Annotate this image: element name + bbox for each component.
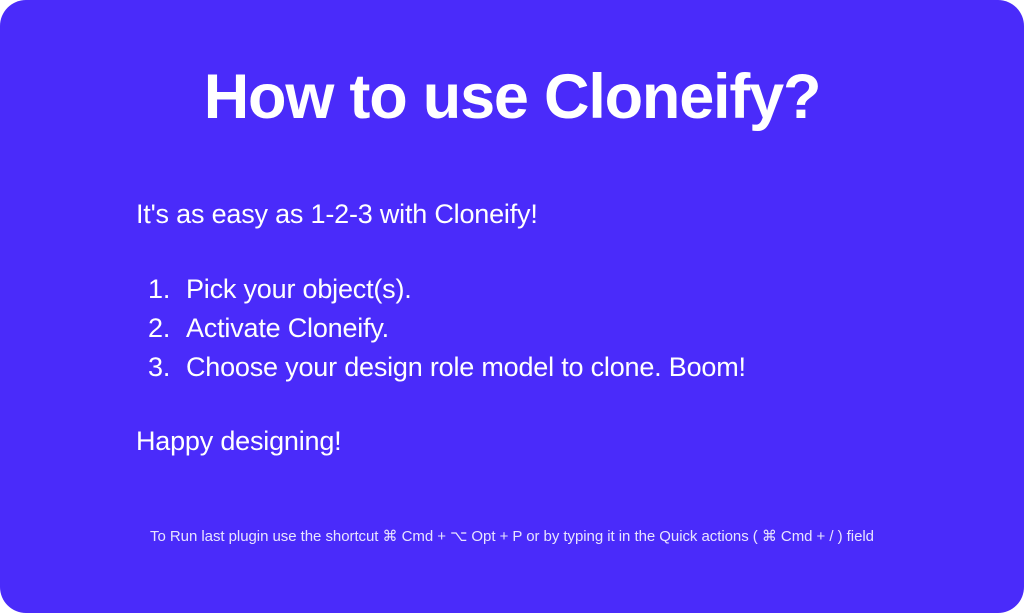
instructions-body: It's as easy as 1-2-3 with Cloneify! 1. … bbox=[136, 198, 936, 459]
page-title: How to use Cloneify? bbox=[0, 62, 1024, 133]
list-item: 3. Choose your design role model to clon… bbox=[136, 348, 936, 387]
step-text: Choose your design role model to clone. … bbox=[186, 348, 936, 387]
intro-text: It's as easy as 1-2-3 with Cloneify! bbox=[136, 198, 936, 232]
list-item: 2. Activate Cloneify. bbox=[136, 309, 936, 348]
closing-text: Happy designing! bbox=[136, 425, 936, 459]
steps-list: 1. Pick your object(s). 2. Activate Clon… bbox=[136, 270, 936, 387]
step-number: 2. bbox=[136, 309, 186, 348]
step-text: Activate Cloneify. bbox=[186, 309, 936, 348]
list-item: 1. Pick your object(s). bbox=[136, 270, 936, 309]
instructions-card: How to use Cloneify? It's as easy as 1-2… bbox=[0, 0, 1024, 613]
step-number: 3. bbox=[136, 348, 186, 387]
step-number: 1. bbox=[136, 270, 186, 309]
shortcut-hint: To Run last plugin use the shortcut ⌘ Cm… bbox=[0, 527, 1024, 547]
step-text: Pick your object(s). bbox=[186, 270, 936, 309]
